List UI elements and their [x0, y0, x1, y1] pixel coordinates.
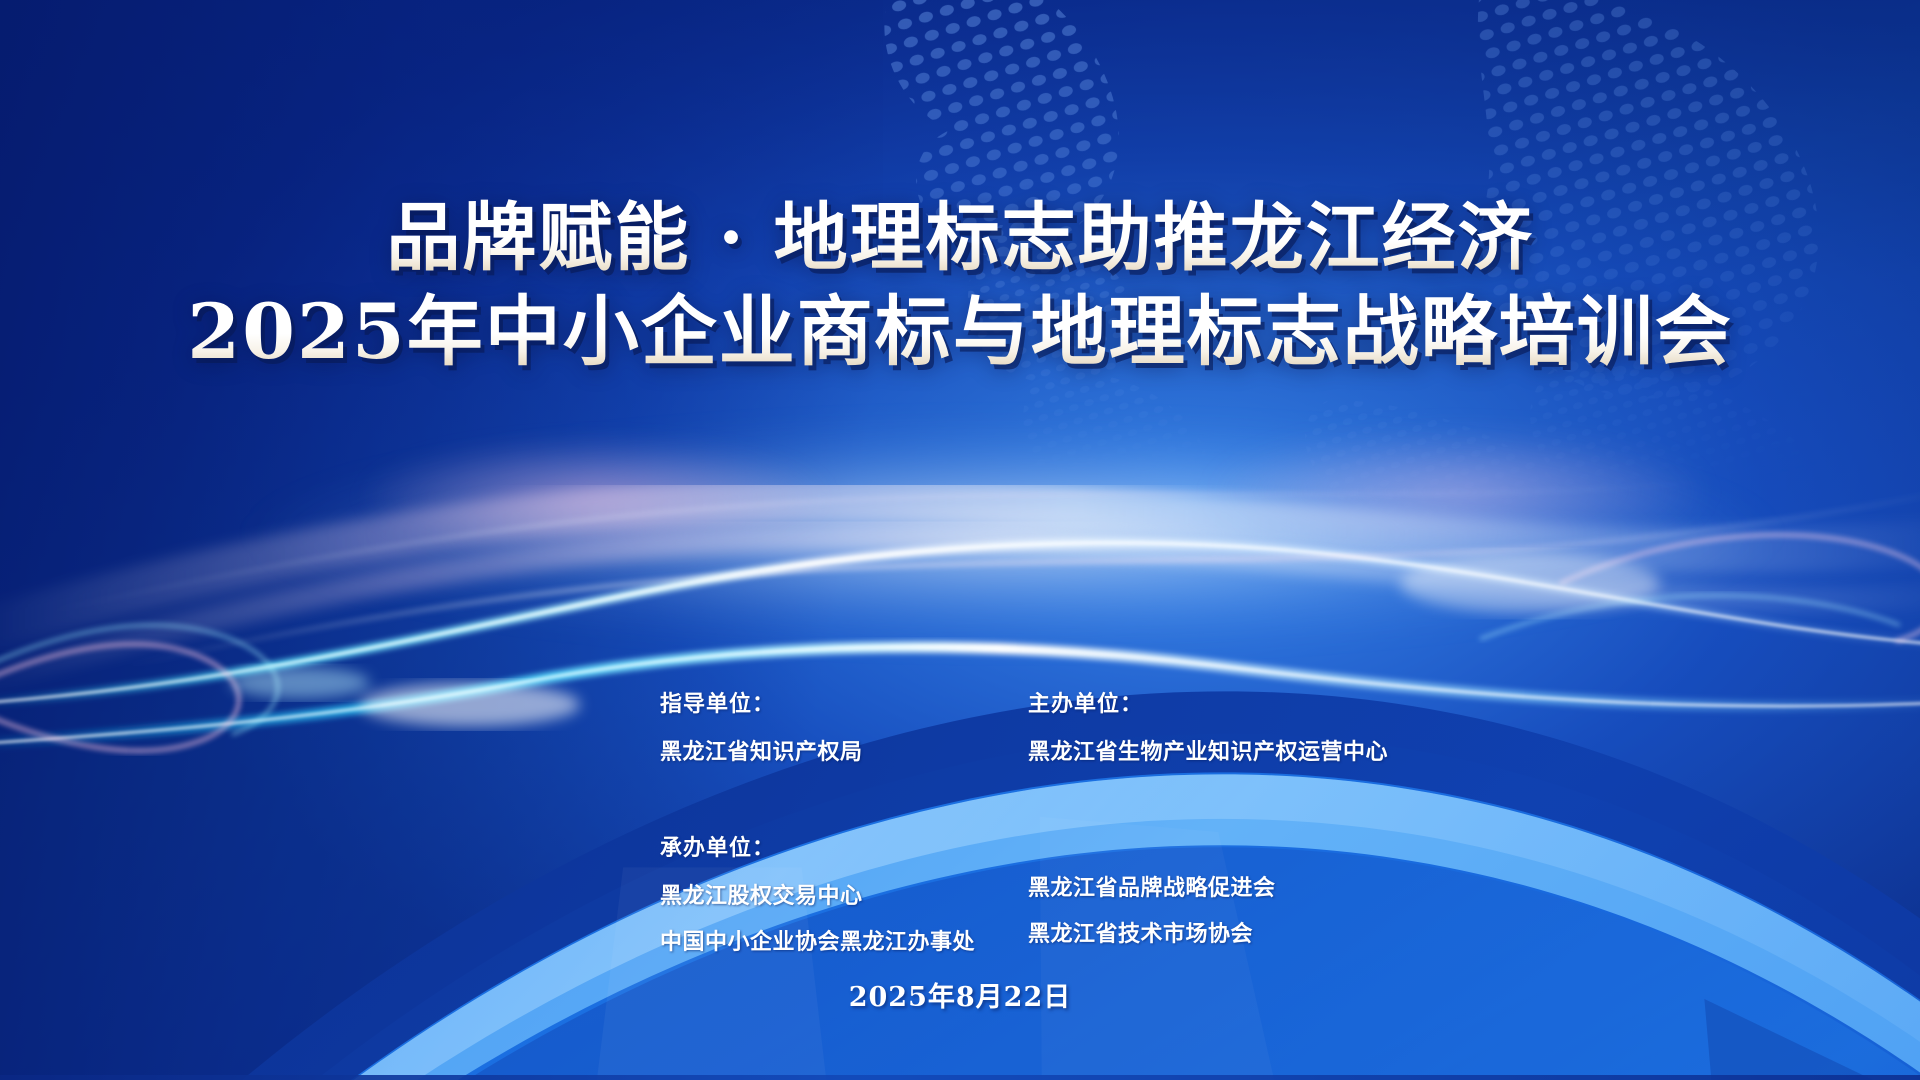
organizations-row-bottom: 承办单位： 黑龙江股权交易中心 中国中小企业协会黑龙江办事处 黑龙江省品牌战略促…: [660, 830, 1420, 970]
organizer-unit-heading: 承办单位：: [660, 830, 1028, 862]
guidance-unit-heading: 指导单位：: [660, 686, 1028, 718]
host-unit-heading: 主办单位：: [1028, 686, 1420, 718]
host-unit-column: 主办单位： 黑龙江省生物产业知识产权运营中心: [1028, 686, 1420, 780]
organizations-row-top: 指导单位： 黑龙江省知识产权局 主办单位： 黑龙江省生物产业知识产权运营中心: [660, 686, 1420, 780]
organizer-unit-name-3: 黑龙江省品牌战略促进会: [1028, 870, 1420, 902]
organizations-block: 指导单位： 黑龙江省知识产权局 主办单位： 黑龙江省生物产业知识产权运营中心 承…: [660, 686, 1420, 970]
host-unit-name: 黑龙江省生物产业知识产权运营中心: [1028, 734, 1420, 766]
poster-title: 品牌赋能 · 地理标志助推龙江经济 2025年中小企业商标与地理标志战略培训会: [0, 196, 1920, 376]
organizer-unit-column-right: 黑龙江省品牌战略促进会 黑龙江省技术市场协会: [1028, 830, 1420, 970]
title-line-2: 2025年中小企业商标与地理标志战略培训会: [0, 288, 1920, 376]
poster-canvas: 品牌赋能 · 地理标志助推龙江经济 2025年中小企业商标与地理标志战略培训会 …: [0, 0, 1920, 1080]
bottom-edge-accent: [0, 1075, 1920, 1080]
event-date: 2025年8月22日: [0, 975, 1920, 1014]
organizer-unit-name-2: 中国中小企业协会黑龙江办事处: [660, 924, 1028, 956]
guidance-unit-column: 指导单位： 黑龙江省知识产权局: [660, 686, 1028, 780]
poster-content: 品牌赋能 · 地理标志助推龙江经济 2025年中小企业商标与地理标志战略培训会 …: [0, 0, 1920, 1080]
organizer-unit-column-left: 承办单位： 黑龙江股权交易中心 中国中小企业协会黑龙江办事处: [660, 830, 1028, 970]
title-line-1: 品牌赋能 · 地理标志助推龙江经济: [0, 196, 1920, 282]
organizer-unit-name-4: 黑龙江省技术市场协会: [1028, 916, 1420, 948]
guidance-unit-name: 黑龙江省知识产权局: [660, 734, 1028, 766]
organizations-spacer: [660, 780, 1420, 830]
organizer-unit-name-1: 黑龙江股权交易中心: [660, 878, 1028, 910]
